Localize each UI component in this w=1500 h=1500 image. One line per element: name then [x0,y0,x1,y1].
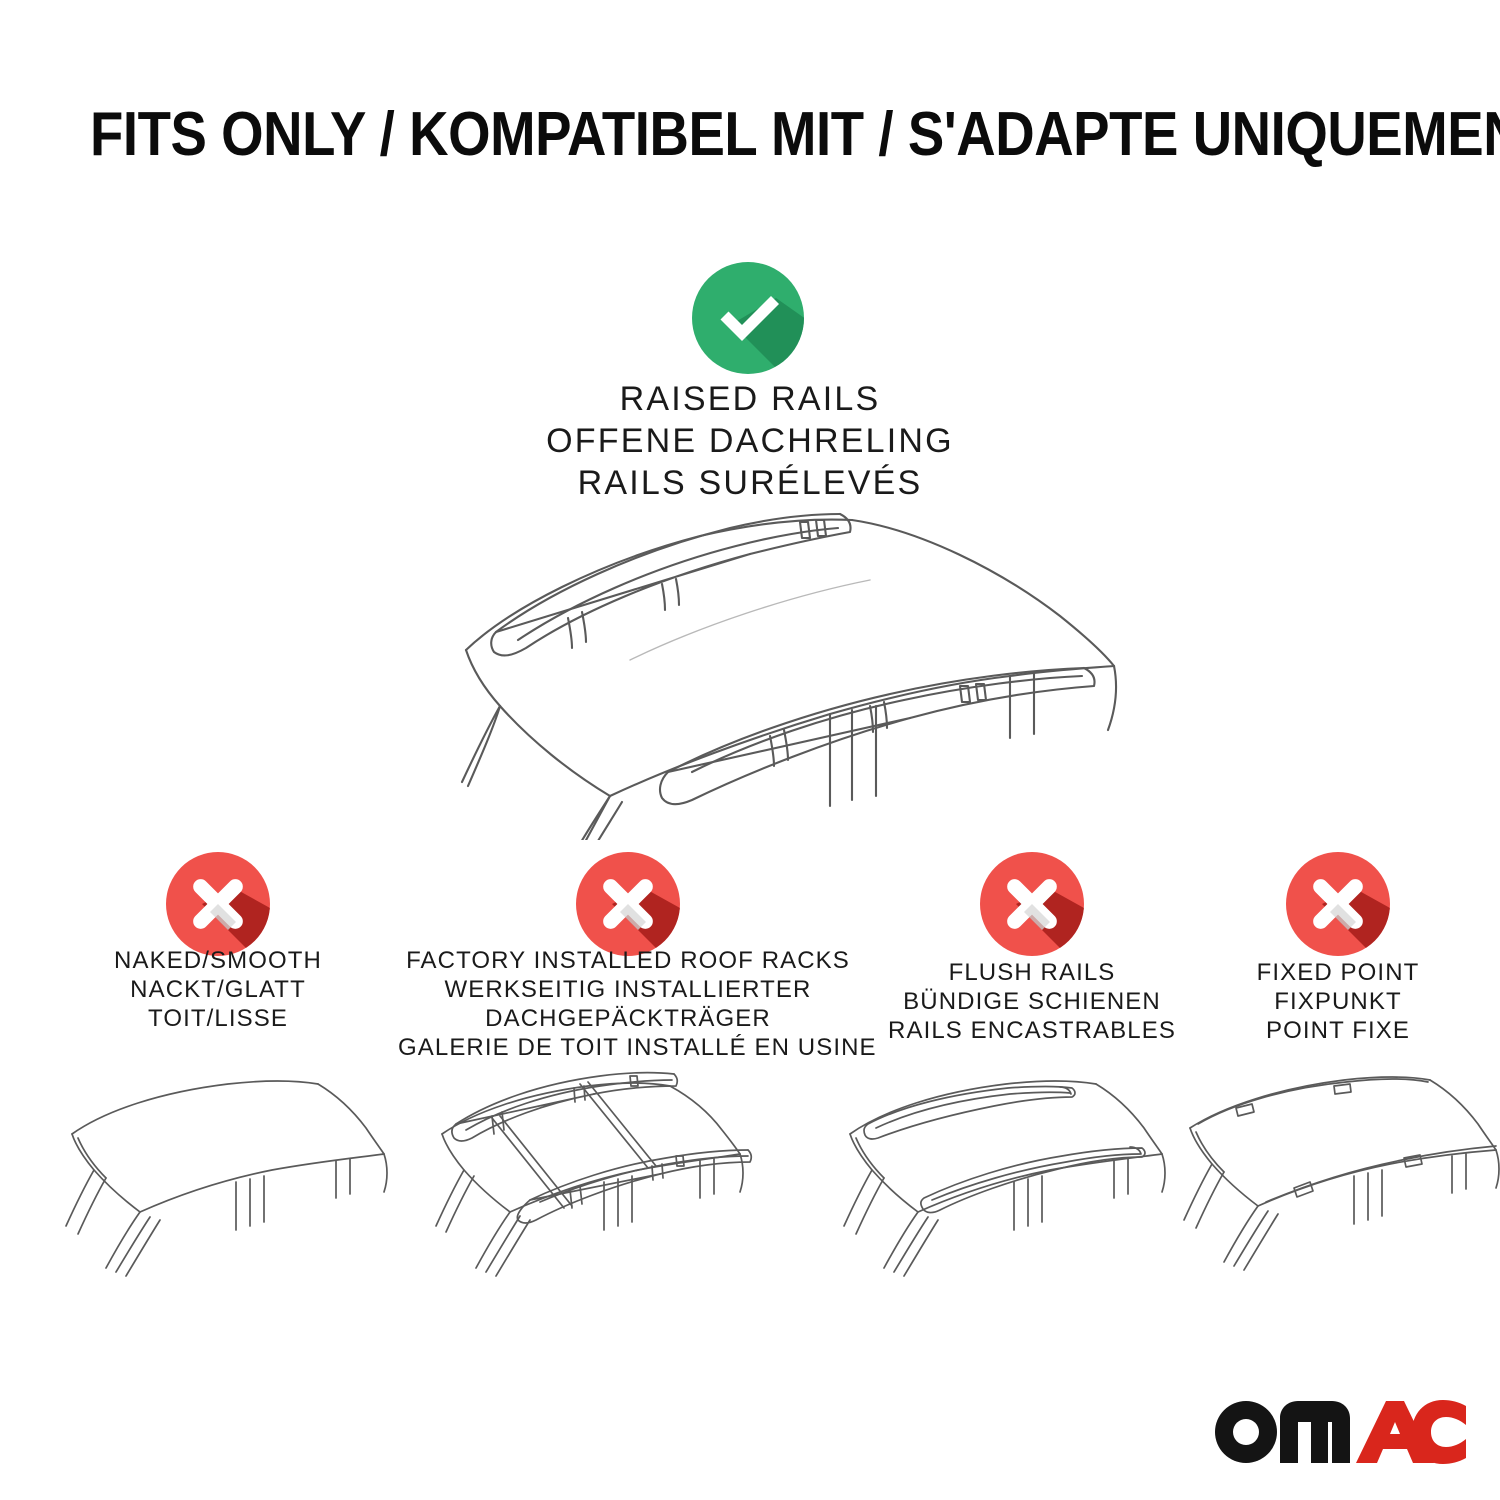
car-roof-naked-smooth-illustration [50,1062,410,1282]
check-circle-icon [692,262,810,380]
x-circle-icon-flush-rails [980,852,1084,956]
label-fixed-point-line-2: FIXPUNKT [1208,987,1468,1016]
compatible-line-1: RAISED RAILS [0,378,1500,420]
car-roof-fixed-point-illustration [1168,1062,1500,1282]
car-roof-flush-rails-illustration [828,1062,1198,1282]
omac-logo [1208,1392,1468,1468]
label-flush-rails: FLUSH RAILS BÜNDIGE SCHIENEN RAILS ENCAS… [862,958,1202,1045]
x-circle-icon-fixed-point [1286,852,1390,956]
compatible-heading: RAISED RAILS OFFENE DACHRELING RAILS SUR… [0,378,1500,504]
label-fixed-point-line-1: FIXED POINT [1208,958,1468,987]
page-title: FITS ONLY / KOMPATIBEL MIT / S'ADAPTE UN… [90,104,1410,166]
label-factory-racks: FACTORY INSTALLED ROOF RACKS WERKSEITIG … [398,946,858,1062]
car-roof-raised-rails-illustration [400,500,1120,840]
x-circle-icon-naked-smooth [166,852,270,956]
label-naked-smooth-line-3: TOIT/LISSE [48,1004,388,1033]
compatible-line-2: OFFENE DACHRELING [0,420,1500,462]
label-naked-smooth-line-1: NAKED/SMOOTH [48,946,388,975]
label-naked-smooth-line-2: NACKT/GLATT [48,975,388,1004]
label-factory-racks-line-1: FACTORY INSTALLED ROOF RACKS [398,946,858,975]
compatible-line-3: RAILS SURÉLEVÉS [0,462,1500,504]
label-factory-racks-line-4: GALERIE DE TOIT INSTALLÉ EN USINE [398,1033,858,1062]
label-fixed-point: FIXED POINT FIXPUNKT POINT FIXE [1208,958,1468,1045]
label-flush-rails-line-3: RAILS ENCASTRABLES [862,1016,1202,1045]
infographic-page: FITS ONLY / KOMPATIBEL MIT / S'ADAPTE UN… [0,0,1500,1500]
label-fixed-point-line-3: POINT FIXE [1208,1016,1468,1045]
label-flush-rails-line-2: BÜNDIGE SCHIENEN [862,987,1202,1016]
x-circle-icon-factory-racks [576,852,680,956]
label-factory-racks-line-3: DACHGEPÄCKTRÄGER [398,1004,858,1033]
car-roof-factory-racks-illustration [408,1060,778,1285]
label-factory-racks-line-2: WERKSEITIG INSTALLIERTER [398,975,858,1004]
label-flush-rails-line-1: FLUSH RAILS [862,958,1202,987]
label-naked-smooth: NAKED/SMOOTH NACKT/GLATT TOIT/LISSE [48,946,388,1033]
